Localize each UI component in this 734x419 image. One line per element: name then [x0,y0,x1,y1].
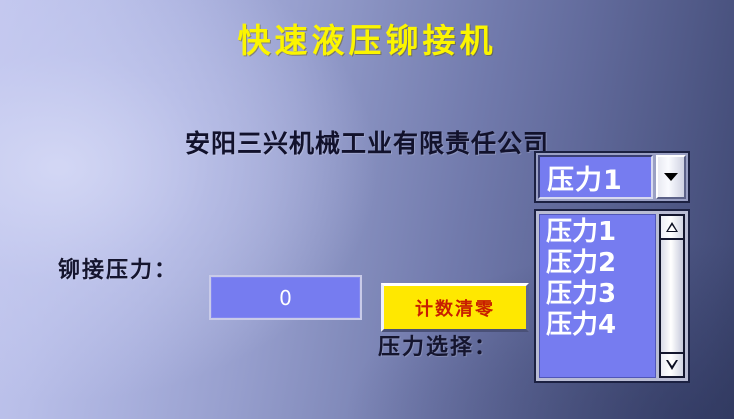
scroll-down-button[interactable] [659,352,685,378]
list-item[interactable]: 压力1 [540,217,655,248]
dropdown-option-list[interactable]: 压力1 压力2 压力3 压力4 [539,214,656,378]
triangle-up-icon [666,222,678,232]
scrollbar-track[interactable] [659,240,685,352]
chevron-down-icon[interactable] [656,155,686,199]
reset-count-button[interactable]: 计数清零 [381,283,529,332]
dropdown-scrollbar[interactable] [659,214,685,378]
hmi-screen: 快速液压铆接机 安阳三兴机械工业有限责任公司 铆接压力： 0 压力选择： 压力1… [0,0,734,419]
pressure-value-field[interactable]: 0 [209,275,362,320]
triangle-down-icon [666,360,678,370]
page-title: 快速液压铆接机 [0,14,734,62]
scroll-up-button[interactable] [659,214,685,240]
chevron-down-glyph [664,173,678,181]
list-item[interactable]: 压力2 [540,248,655,279]
combobox-selected-value[interactable]: 压力1 [538,155,653,199]
pressure-combobox[interactable]: 压力1 [534,151,690,203]
list-item[interactable]: 压力4 [540,310,655,341]
list-item[interactable]: 压力3 [540,279,655,310]
pressure-dropdown-panel[interactable]: 压力1 压力2 压力3 压力4 [534,209,690,383]
